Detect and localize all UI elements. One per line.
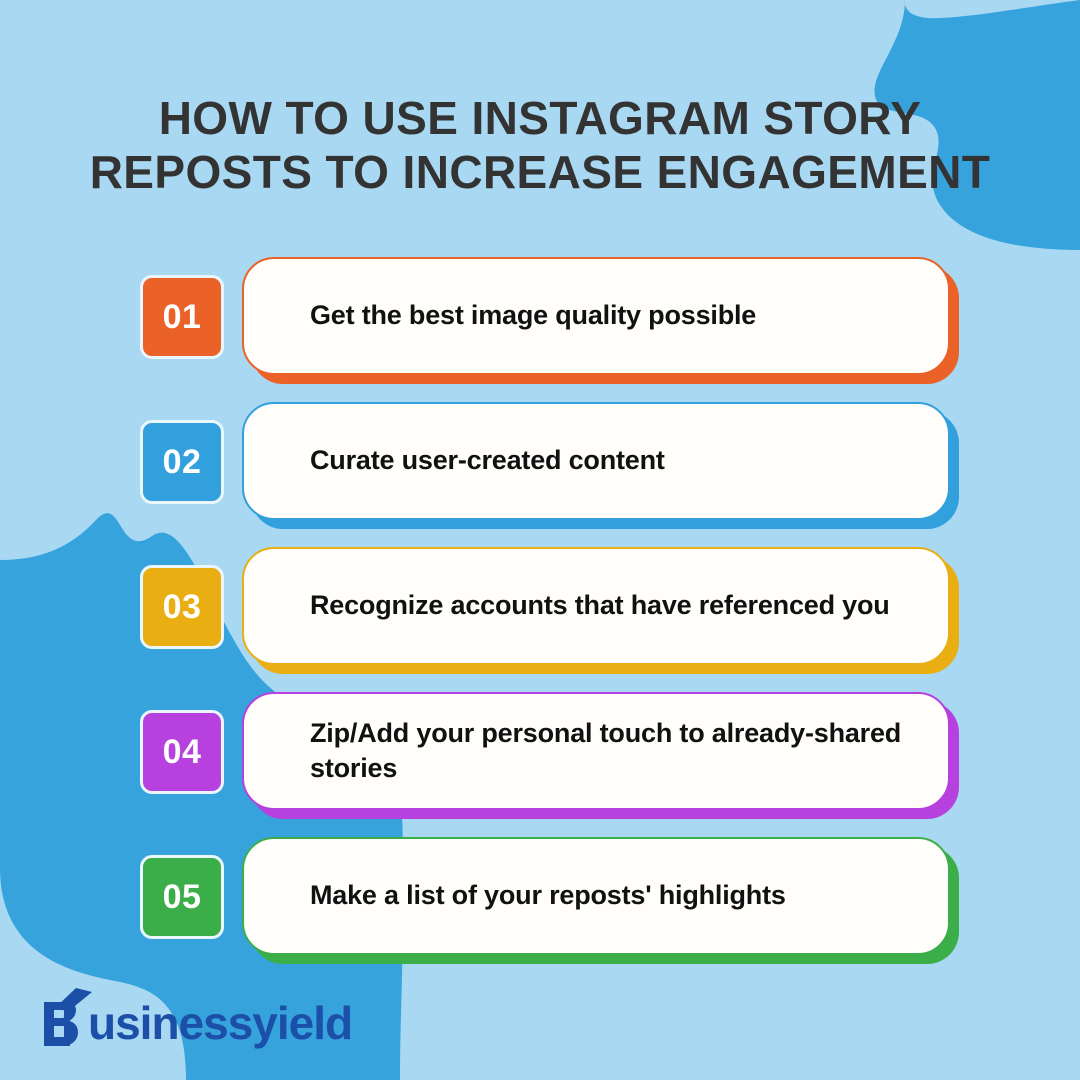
step-card[interactable]: Zip/Add your personal touch to already-s… [242,692,950,810]
title-line-2: REPOSTS TO INCREASE ENGAGEMENT [60,146,1020,200]
step-number-badge: 02 [140,420,224,504]
step-item: 05Make a list of your reposts' highlight… [140,837,950,955]
step-number-label: 01 [163,298,202,337]
infographic-poster: HOW TO USE INSTAGRAM STORY REPOSTS TO IN… [0,0,1080,1080]
step-card-text: Make a list of your reposts' highlights [244,878,820,913]
step-number-label: 02 [163,443,202,482]
step-card-text: Curate user-created content [244,443,699,478]
step-item: 04Zip/Add your personal touch to already… [140,692,950,810]
title-line-1: HOW TO USE INSTAGRAM STORY [60,92,1020,146]
step-card-text: Zip/Add your personal touch to already-s… [244,716,948,786]
step-card-text: Recognize accounts that have referenced … [244,588,924,623]
logo-wordmark: usinessyield [88,1000,352,1046]
step-card[interactable]: Get the best image quality possible [242,257,950,375]
step-number-badge: 03 [140,565,224,649]
step-card-text: Get the best image quality possible [244,298,790,333]
step-number-badge: 01 [140,275,224,359]
step-item: 02Curate user-created content [140,402,950,520]
step-card[interactable]: Make a list of your reposts' highlights [242,837,950,955]
page-title: HOW TO USE INSTAGRAM STORY REPOSTS TO IN… [60,92,1020,200]
step-number-label: 03 [163,588,202,627]
step-number-label: 05 [163,878,202,917]
step-card-wrapper: Recognize accounts that have referenced … [242,547,950,665]
step-card-wrapper: Zip/Add your personal touch to already-s… [242,692,950,810]
step-card-wrapper: Make a list of your reposts' highlights [242,837,950,955]
step-number-label: 04 [163,733,202,772]
step-number-badge: 05 [140,855,224,939]
step-card-wrapper: Curate user-created content [242,402,950,520]
steps-list: 01Get the best image quality possible02C… [140,257,950,982]
step-item: 01Get the best image quality possible [140,257,950,375]
step-item: 03Recognize accounts that have reference… [140,547,950,665]
logo-arrow-icon [42,986,98,1048]
step-card-wrapper: Get the best image quality possible [242,257,950,375]
step-card[interactable]: Recognize accounts that have referenced … [242,547,950,665]
brand-logo[interactable]: usinessyield [42,986,352,1048]
step-card[interactable]: Curate user-created content [242,402,950,520]
step-number-badge: 04 [140,710,224,794]
